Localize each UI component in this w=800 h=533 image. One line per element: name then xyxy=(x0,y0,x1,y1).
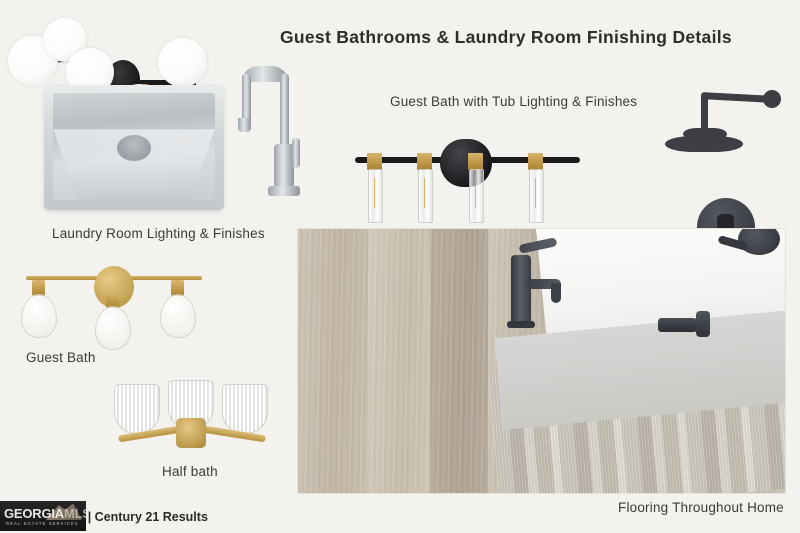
guest-bath-vanity-light xyxy=(14,258,214,350)
caption-guest-bath: Guest Bath xyxy=(26,350,96,365)
sink-drain xyxy=(117,135,151,161)
fixture-backplate xyxy=(176,418,206,448)
glass-shade-2 xyxy=(418,169,433,223)
shower-head xyxy=(665,136,743,152)
brass-socket-4 xyxy=(528,153,543,170)
glass-shade-1 xyxy=(114,384,160,434)
caption-guest-bath-tub: Guest Bath with Tub Lighting & Finishes xyxy=(390,94,637,109)
glass-shade-3 xyxy=(222,384,268,434)
logo-word-mls: MLS xyxy=(64,506,86,521)
caption-half-bath: Half bath xyxy=(162,464,218,479)
faucet-spout-tip xyxy=(551,283,561,303)
faucet-body xyxy=(274,144,294,188)
shower-arm-drop xyxy=(701,94,708,132)
page-title: Guest Bathrooms & Laundry Room Finishing… xyxy=(280,27,732,48)
glass-shade-3 xyxy=(469,169,484,223)
flooring-photo xyxy=(297,228,786,494)
bulb-2 xyxy=(95,306,131,350)
listing-collage-board: Guest Bathrooms & Laundry Room Finishing… xyxy=(0,0,800,533)
bulb-1 xyxy=(21,294,57,338)
logo-wordmark: GEORGIAMLS xyxy=(4,506,86,521)
agent-watermark-bar: son | Century 21 Results GEORGIAMLS REAL… xyxy=(0,499,800,533)
laundry-sink xyxy=(44,85,224,210)
shower-arm-flange xyxy=(763,90,781,108)
tub-bath-vanity-light xyxy=(345,125,590,235)
faucet-sprayer-head xyxy=(238,118,251,132)
faucet-neck-right xyxy=(280,74,289,148)
glass-shade-4 xyxy=(529,169,544,223)
logo-word-georgia: GEORGIA xyxy=(4,506,64,521)
georgia-mls-logo: GEORGIAMLS REAL ESTATE SERVICES xyxy=(0,501,86,531)
brass-socket-3 xyxy=(468,153,483,170)
faucet-lever-handle xyxy=(518,237,557,254)
brass-socket-1 xyxy=(367,153,382,170)
globe-5 xyxy=(158,38,207,87)
fixture-center-body xyxy=(440,139,492,187)
logo-subtitle: REAL ESTATE SERVICES xyxy=(6,521,79,526)
bulb-3 xyxy=(160,294,196,338)
tub-spout-in-photo xyxy=(658,309,716,337)
bathroom-faucet xyxy=(503,239,559,327)
faucet-handle xyxy=(292,138,300,168)
caption-laundry: Laundry Room Lighting & Finishes xyxy=(52,226,265,241)
brass-socket-2 xyxy=(417,153,432,170)
faucet-base xyxy=(268,186,300,196)
faucet-base xyxy=(507,321,535,328)
faucet-body xyxy=(511,255,531,325)
glass-shade-1 xyxy=(368,169,383,223)
laundry-faucet xyxy=(228,60,304,210)
half-bath-vanity-light xyxy=(110,378,275,454)
